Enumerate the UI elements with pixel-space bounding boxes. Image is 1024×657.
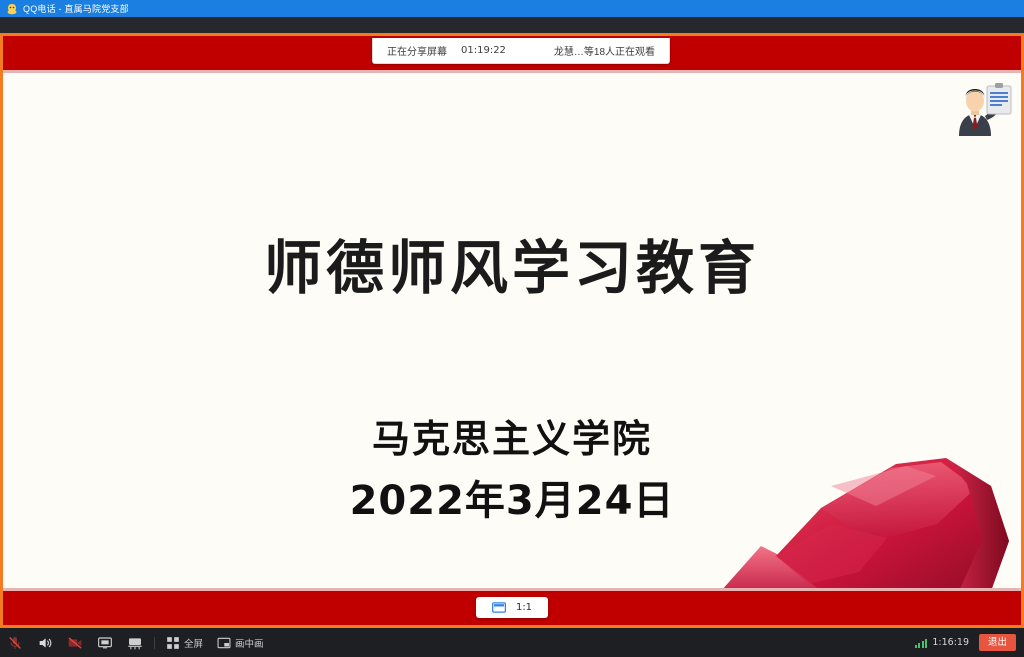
screen-share-icon — [97, 635, 113, 651]
slide-title: 师德师风学习教育 — [3, 221, 1021, 305]
qq-call-window: QQ电话 - 直属马院党支部 — [0, 0, 1024, 657]
toolbar-item-picture-in-picture[interactable]: 画中画 — [210, 628, 271, 657]
fullscreen-icon — [166, 636, 180, 650]
members-icon — [127, 635, 143, 651]
camera-muted-icon — [67, 635, 83, 651]
window-titlebar: QQ电话 - 直属马院党支部 — [0, 0, 1024, 17]
screen-share-status-bar[interactable]: 正在分享屏幕 01:19:22 龙慧…等18人正在观看 — [372, 38, 670, 64]
window-title: QQ电话 - 直属马院党支部 — [23, 4, 129, 14]
call-duration: 1:16:19 — [932, 637, 969, 648]
toolbar-item-speaker[interactable] — [30, 628, 60, 657]
mic-muted-icon — [7, 635, 23, 651]
toolbar-item-microphone-muted[interactable] — [0, 628, 30, 657]
slide-ratio-indicator[interactable]: 1:1 — [476, 597, 548, 618]
toolbar-item-screen-share[interactable] — [90, 628, 120, 657]
toolbar-label-fullscreen: 全屏 — [184, 636, 203, 650]
share-status-label: 正在分享屏幕 — [387, 43, 447, 58]
red-flag-clipart — [691, 446, 1021, 591]
share-viewers-label: 龙慧…等18人正在观看 — [554, 43, 655, 58]
toolbar-right-group: 1:16:19 退出 — [915, 634, 1024, 651]
toolbar-item-camera-muted[interactable] — [60, 628, 90, 657]
slide-ratio-label: 1:1 — [516, 602, 532, 613]
toolbar-item-members[interactable] — [120, 628, 150, 657]
toolbar-item-fullscreen[interactable]: 全屏 — [159, 628, 210, 657]
pip-icon — [217, 636, 231, 650]
speaker-icon — [37, 635, 53, 651]
toolbar-separator — [154, 637, 155, 649]
slide-top-band-shadow — [3, 70, 1021, 73]
share-timer: 01:19:22 — [461, 45, 506, 56]
presentation-slide: 师德师风学习教育 马克思主义学院 2022年3月24日 — [3, 36, 1021, 625]
presenter-clipboard-clipart — [943, 74, 1015, 136]
signal-bars-icon — [915, 638, 928, 648]
window-chrome-top — [0, 17, 1024, 33]
exit-call-button[interactable]: 退出 — [979, 634, 1016, 651]
slide-ratio-icon — [492, 602, 506, 613]
call-toolbar: 全屏 画中画 1:16:19 退出 — [0, 628, 1024, 657]
shared-screen-frame: 师德师风学习教育 马克思主义学院 2022年3月24日 — [0, 33, 1024, 628]
qq-phone-icon — [6, 3, 18, 15]
toolbar-label-pip: 画中画 — [235, 636, 264, 650]
